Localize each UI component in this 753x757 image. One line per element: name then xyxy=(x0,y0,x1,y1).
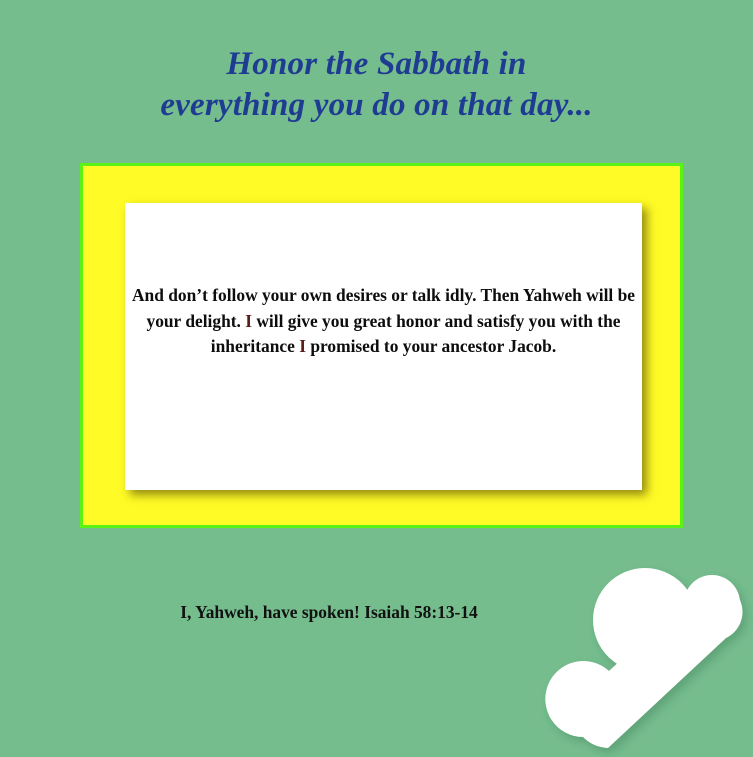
cloud-icon xyxy=(528,552,753,757)
slide-canvas: Honor the Sabbath in everything you do o… xyxy=(0,0,753,757)
quote-text: And don’t follow your own desires or tal… xyxy=(131,283,636,360)
title-line-1: Honor the Sabbath in xyxy=(0,44,753,85)
quote-panel: And don’t follow your own desires or tal… xyxy=(80,163,683,528)
quote-segment-3: promised to your ancestor Jacob. xyxy=(306,336,556,356)
quote-highlight-i-1: I xyxy=(245,311,252,331)
attribution-text: I, Yahweh, have spoken! Isaiah 58:13-14 xyxy=(119,601,539,623)
quote-highlight-i-2: I xyxy=(299,336,306,356)
title-line-2: everything you do on that day... xyxy=(0,85,753,126)
quote-card: And don’t follow your own desires or tal… xyxy=(125,203,642,490)
page-title: Honor the Sabbath in everything you do o… xyxy=(0,44,753,126)
